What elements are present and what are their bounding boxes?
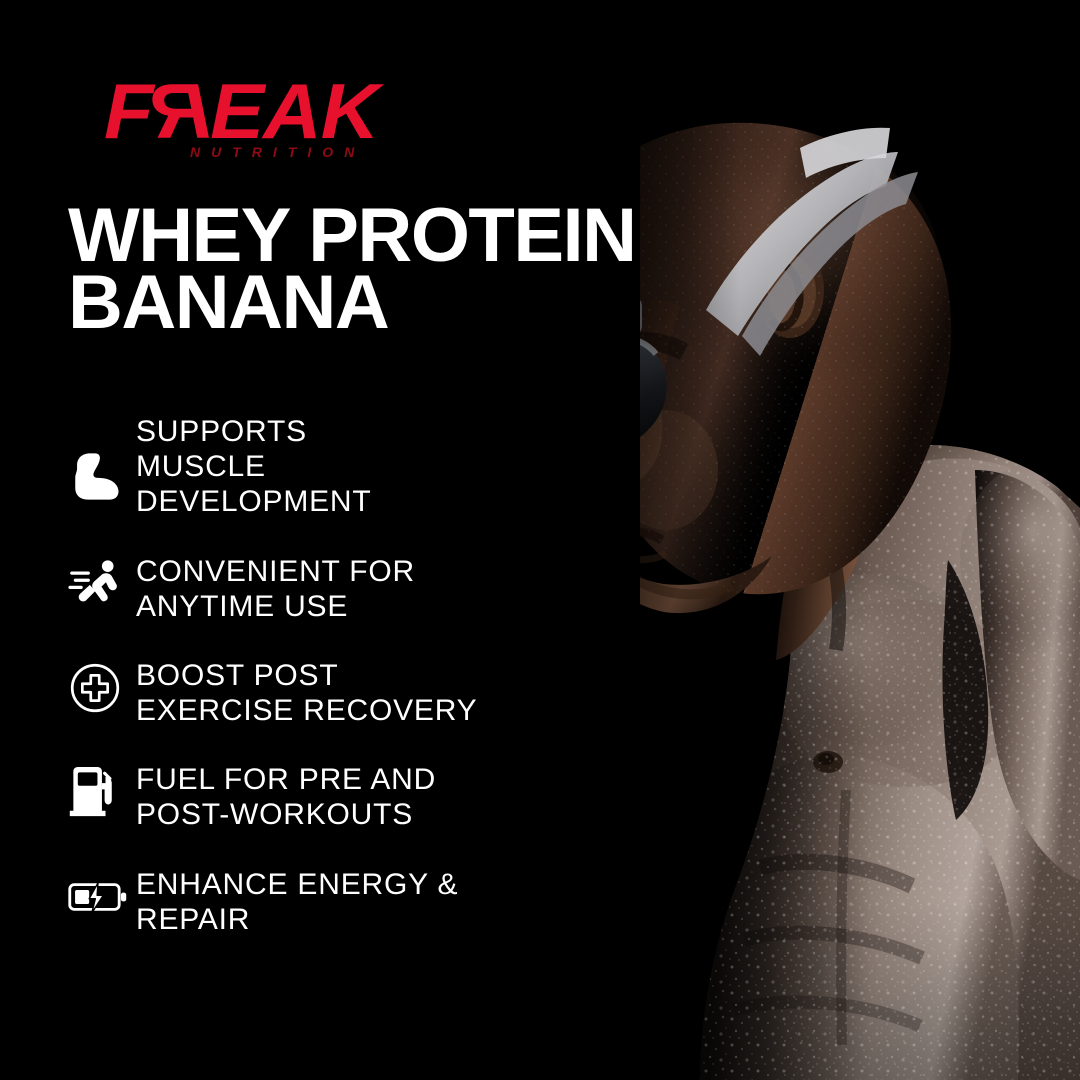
poster-canvas: FREAK NUTRITION WHEY PROTEIN BANANA SUPP… xyxy=(0,0,1080,1080)
feature-list: SUPPORTS MUSCLE DEVELOPMENT CONVENIENT F… xyxy=(64,412,584,937)
brand-logo-wordmark: FREAK xyxy=(104,72,458,150)
feature-label: FUEL FOR PRE AND POST-WORKOUTS xyxy=(136,760,584,832)
battery-charging-icon xyxy=(64,865,136,929)
logo-letter-f: F xyxy=(104,67,153,155)
running-person-icon xyxy=(64,552,136,616)
feature-item: ENHANCE ENERGY & REPAIR xyxy=(64,865,584,937)
logo-letter-r-reversed: R xyxy=(153,72,211,150)
medical-cross-circle-icon xyxy=(64,656,136,720)
feature-item: FUEL FOR PRE AND POST-WORKOUTS xyxy=(64,760,584,832)
logo-letters-eak: EAK xyxy=(210,67,378,155)
feature-item: SUPPORTS MUSCLE DEVELOPMENT xyxy=(64,412,584,522)
brand-tagline: NUTRITION xyxy=(190,144,365,160)
brand-logo: FREAK NUTRITION xyxy=(104,72,444,170)
feature-label: BOOST POST EXERCISE RECOVERY xyxy=(136,656,584,728)
feature-item: CONVENIENT FOR ANYTIME USE xyxy=(64,552,584,624)
headline-line-2: BANANA xyxy=(68,270,636,337)
product-headline: WHEY PROTEIN BANANA xyxy=(68,203,636,337)
fuel-pump-icon xyxy=(64,760,136,824)
feature-label: ENHANCE ENERGY & REPAIR xyxy=(136,865,584,937)
feature-label: CONVENIENT FOR ANYTIME USE xyxy=(136,552,584,624)
feature-label: SUPPORTS MUSCLE DEVELOPMENT xyxy=(136,412,584,519)
feature-item: BOOST POST EXERCISE RECOVERY xyxy=(64,656,584,728)
flexed-bicep-icon xyxy=(64,412,136,522)
